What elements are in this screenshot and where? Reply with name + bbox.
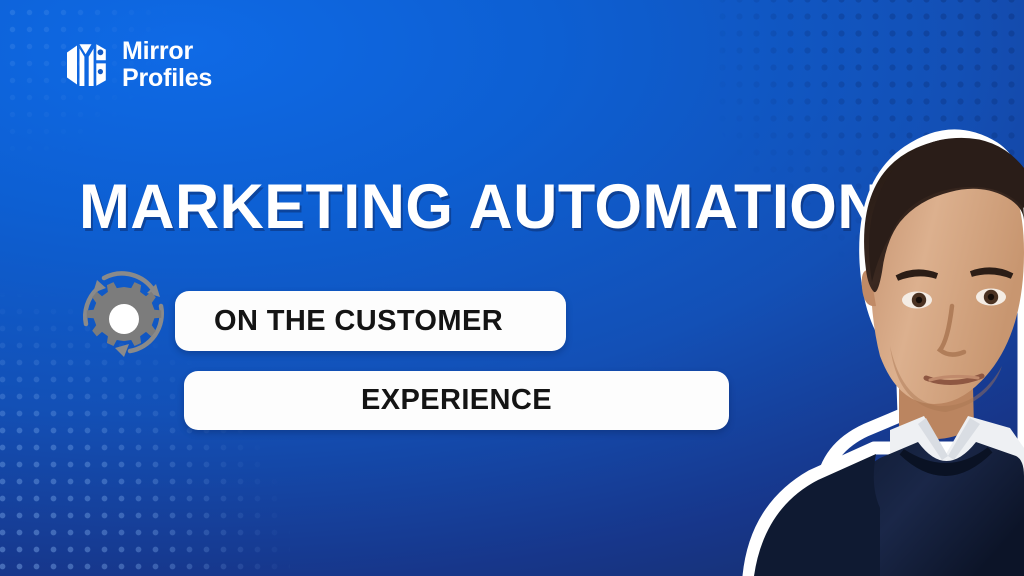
subtitle-pill-secondary: EXPERIENCE <box>184 371 729 430</box>
portrait-illustration <box>694 56 1024 576</box>
gear-refresh-icon <box>68 262 180 368</box>
brand-logo[interactable]: Mirror Profiles <box>64 38 212 91</box>
brand-name-line1: Mirror <box>122 38 212 65</box>
subtitle-pill-secondary-label: EXPERIENCE <box>361 384 552 417</box>
portrait-photo <box>694 56 1024 576</box>
subtitle-pill-primary-label: ON THE CUSTOMER <box>214 305 503 338</box>
brand-name-line2: Profiles <box>122 65 212 92</box>
marketing-banner: Mirror Profiles MARKETING AUTOMATION ON … <box>0 0 1024 576</box>
brand-name: Mirror Profiles <box>122 38 212 91</box>
subtitle-pill-primary: ON THE CUSTOMER <box>175 291 566 351</box>
mirror-profiles-monogram-icon <box>64 40 110 90</box>
